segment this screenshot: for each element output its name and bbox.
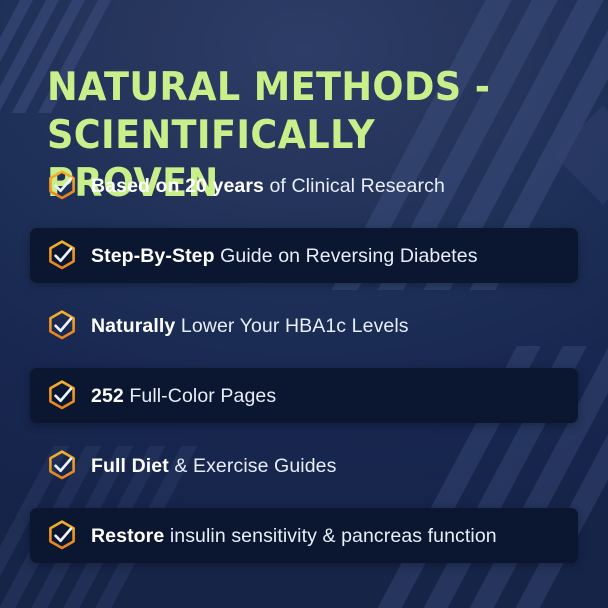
- hexagon-check-icon: [45, 379, 79, 413]
- list-item-rest: Guide on Reversing Diabetes: [215, 245, 478, 267]
- list-item-lead: Restore: [91, 525, 164, 547]
- list-item: Based on 20 years of Clinical Research: [0, 158, 608, 213]
- list-item-lead: Full Diet: [91, 455, 169, 477]
- list-item-rest: Full-Color Pages: [124, 385, 276, 407]
- list-item-rest: of Clinical Research: [264, 175, 445, 197]
- hexagon-check-icon: [45, 169, 79, 203]
- list-item-label: Restore insulin sensitivity & pancreas f…: [91, 524, 497, 548]
- promo-poster: NATURAL METHODS - SCIENTIFICALLY PROVEN …: [0, 0, 608, 608]
- list-item-label: Naturally Lower Your HBA1c Levels: [91, 314, 409, 338]
- list-item-label: 252 Full-Color Pages: [91, 384, 276, 408]
- hexagon-check-icon: [45, 449, 79, 483]
- list-item-rest: & Exercise Guides: [169, 455, 337, 477]
- feature-list: Based on 20 years of Clinical Research S…: [0, 158, 608, 578]
- list-item: 252 Full-Color Pages: [30, 368, 578, 423]
- list-item-label: Full Diet & Exercise Guides: [91, 454, 336, 478]
- list-item: Naturally Lower Your HBA1c Levels: [0, 298, 608, 353]
- hexagon-check-icon: [45, 309, 79, 343]
- list-item: Step-By-Step Guide on Reversing Diabetes: [30, 228, 578, 283]
- list-item-lead: 252: [91, 385, 124, 407]
- list-item-rest: insulin sensitivity & pancreas function: [164, 525, 496, 547]
- list-item-lead: Naturally: [91, 315, 175, 337]
- list-item: Restore insulin sensitivity & pancreas f…: [30, 508, 578, 563]
- list-item-lead: Based on 20 years: [91, 175, 264, 197]
- hexagon-check-icon: [45, 239, 79, 273]
- list-item-label: Based on 20 years of Clinical Research: [91, 174, 445, 198]
- list-item: Full Diet & Exercise Guides: [0, 438, 608, 493]
- hexagon-check-icon: [45, 519, 79, 553]
- list-item-label: Step-By-Step Guide on Reversing Diabetes: [91, 244, 478, 268]
- list-item-lead: Step-By-Step: [91, 245, 215, 267]
- list-item-rest: Lower Your HBA1c Levels: [175, 315, 408, 337]
